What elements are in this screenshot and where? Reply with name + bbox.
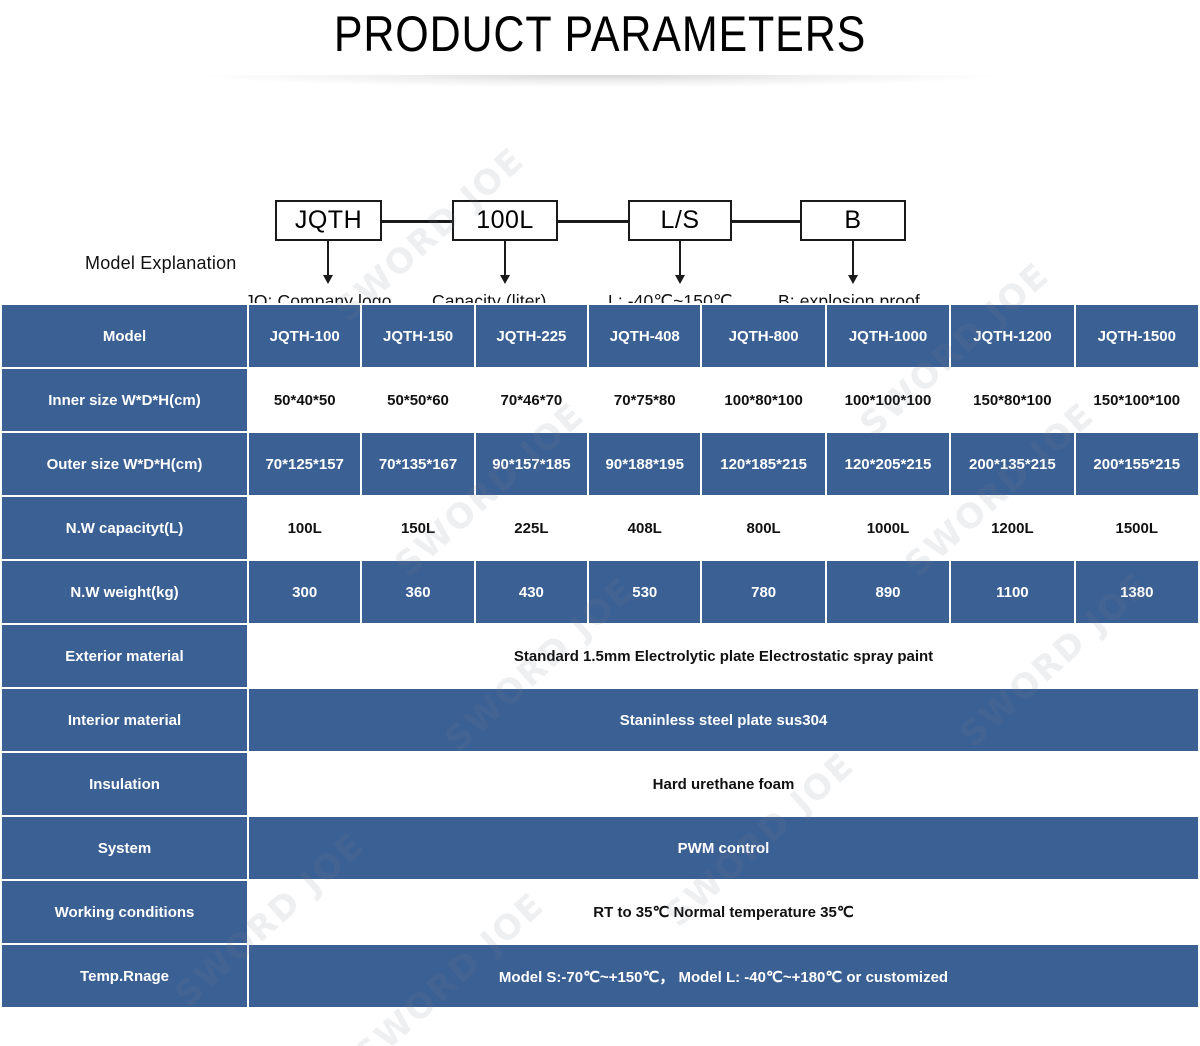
row-label: N.W weight(kg) — [2, 561, 247, 623]
table-cell-merged: RT to 35℃ Normal temperature 35℃ — [249, 881, 1198, 943]
table-cell: 225L — [476, 497, 587, 559]
row-label: Exterior material — [2, 625, 247, 687]
model-code-box-jqth: JQTH — [275, 200, 382, 241]
row-label: N.W capacityt(L) — [2, 497, 247, 559]
row-label: Interior material — [2, 689, 247, 751]
row-label: Temp.Rnage — [2, 945, 247, 1007]
arrow-head-icon — [848, 275, 858, 284]
table-row: Working conditions RT to 35℃ Normal temp… — [2, 881, 1198, 943]
table-cell: 300 — [249, 561, 360, 623]
table-row: Exterior material Standard 1.5mm Electro… — [2, 625, 1198, 687]
table-cell: 780 — [702, 561, 824, 623]
row-label: Inner size W*D*H(cm) — [2, 369, 247, 431]
table-cell: 1100 — [951, 561, 1073, 623]
connector-line — [380, 220, 454, 223]
table-cell: 1380 — [1076, 561, 1198, 623]
model-explanation-label: Model Explanation — [85, 253, 237, 274]
arrow-line — [327, 241, 329, 277]
table-cell: 70*125*157 — [249, 433, 360, 495]
model-code-box-temprange: L/S — [628, 200, 732, 241]
connector-line — [556, 220, 630, 223]
table-cell: 50*50*60 — [362, 369, 473, 431]
table-cell: 90*157*185 — [476, 433, 587, 495]
table-row: N.W capacityt(L) 100L 150L 225L 408L 800… — [2, 497, 1198, 559]
model-explanation-diagram: JQTH 100L L/S B Model Explanation JQ: Co… — [0, 75, 1200, 303]
arrow-head-icon — [675, 275, 685, 284]
table-header-cell: JQTH-1200 — [951, 305, 1073, 367]
table-cell: 150L — [362, 497, 473, 559]
table-row: N.W weight(kg) 300 360 430 530 780 890 1… — [2, 561, 1198, 623]
table-cell: 530 — [589, 561, 700, 623]
table-cell: 100L — [249, 497, 360, 559]
title-area: PRODUCT PARAMETERS — [0, 0, 1200, 75]
table-cell-merged: Hard urethane foam — [249, 753, 1198, 815]
table-row: Outer size W*D*H(cm) 70*125*157 70*135*1… — [2, 433, 1198, 495]
model-code-box-label: L/S — [660, 206, 699, 235]
row-label: Insulation — [2, 753, 247, 815]
table-header-cell: JQTH-1500 — [1076, 305, 1198, 367]
table-cell: 200*135*215 — [951, 433, 1073, 495]
table-cell: 120*185*215 — [702, 433, 824, 495]
table-row: System PWM control — [2, 817, 1198, 879]
table-cell: 360 — [362, 561, 473, 623]
table-header-cell: JQTH-100 — [249, 305, 360, 367]
row-label: Working conditions — [2, 881, 247, 943]
table-row: Inner size W*D*H(cm) 50*40*50 50*50*60 7… — [2, 369, 1198, 431]
table-header-cell: JQTH-1000 — [827, 305, 949, 367]
connector-line — [730, 220, 802, 223]
table-cell: 90*188*195 — [589, 433, 700, 495]
table-row: Temp.Rnage Model S:-70℃~+150℃， Model L: … — [2, 945, 1198, 1007]
model-code-box-explosionproof: B — [800, 200, 906, 241]
table-cell: 800L — [702, 497, 824, 559]
table-cell: 100*80*100 — [702, 369, 824, 431]
table-cell: 150*80*100 — [951, 369, 1073, 431]
arrow-head-icon — [323, 275, 333, 284]
table-cell: 50*40*50 — [249, 369, 360, 431]
arrow-line — [679, 241, 681, 277]
table-cell-merged: Model S:-70℃~+150℃， Model L: -40℃~+180℃ … — [249, 945, 1198, 1007]
table-cell: 100*100*100 — [827, 369, 949, 431]
table-header-cell: JQTH-800 — [702, 305, 824, 367]
model-code-box-capacity: 100L — [452, 200, 558, 241]
table-cell-merged: PWM control — [249, 817, 1198, 879]
arrow-line — [504, 241, 506, 277]
table-cell: 430 — [476, 561, 587, 623]
table-header-cell: JQTH-408 — [589, 305, 700, 367]
table-cell: 1200L — [951, 497, 1073, 559]
arrow-head-icon — [500, 275, 510, 284]
model-code-box-label: B — [844, 206, 861, 235]
table-header-model-label: Model — [2, 305, 247, 367]
product-parameters-table: Model JQTH-100 JQTH-150 JQTH-225 JQTH-40… — [0, 303, 1200, 1009]
table-cell: 70*46*70 — [476, 369, 587, 431]
table-cell: 200*155*215 — [1076, 433, 1198, 495]
row-label: Outer size W*D*H(cm) — [2, 433, 247, 495]
table-header-row: Model JQTH-100 JQTH-150 JQTH-225 JQTH-40… — [2, 305, 1198, 367]
table-cell: 70*135*167 — [362, 433, 473, 495]
table-cell: 1000L — [827, 497, 949, 559]
table-cell: 1500L — [1076, 497, 1198, 559]
table-header-cell: JQTH-150 — [362, 305, 473, 367]
table-cell: 890 — [827, 561, 949, 623]
table-cell: 70*75*80 — [589, 369, 700, 431]
table-cell: 120*205*215 — [827, 433, 949, 495]
table-cell-merged: Standard 1.5mm Electrolytic plate Electr… — [249, 625, 1198, 687]
table-cell: 408L — [589, 497, 700, 559]
model-code-box-label: JQTH — [295, 206, 362, 235]
table-cell-merged: Staninless steel plate sus304 — [249, 689, 1198, 751]
model-code-box-label: 100L — [476, 206, 534, 235]
page-title: PRODUCT PARAMETERS — [84, 0, 1116, 68]
row-label: System — [2, 817, 247, 879]
table-row: Insulation Hard urethane foam — [2, 753, 1198, 815]
arrow-line — [852, 241, 854, 277]
table-row: Interior material Staninless steel plate… — [2, 689, 1198, 751]
table-cell: 150*100*100 — [1076, 369, 1198, 431]
table-header-cell: JQTH-225 — [476, 305, 587, 367]
